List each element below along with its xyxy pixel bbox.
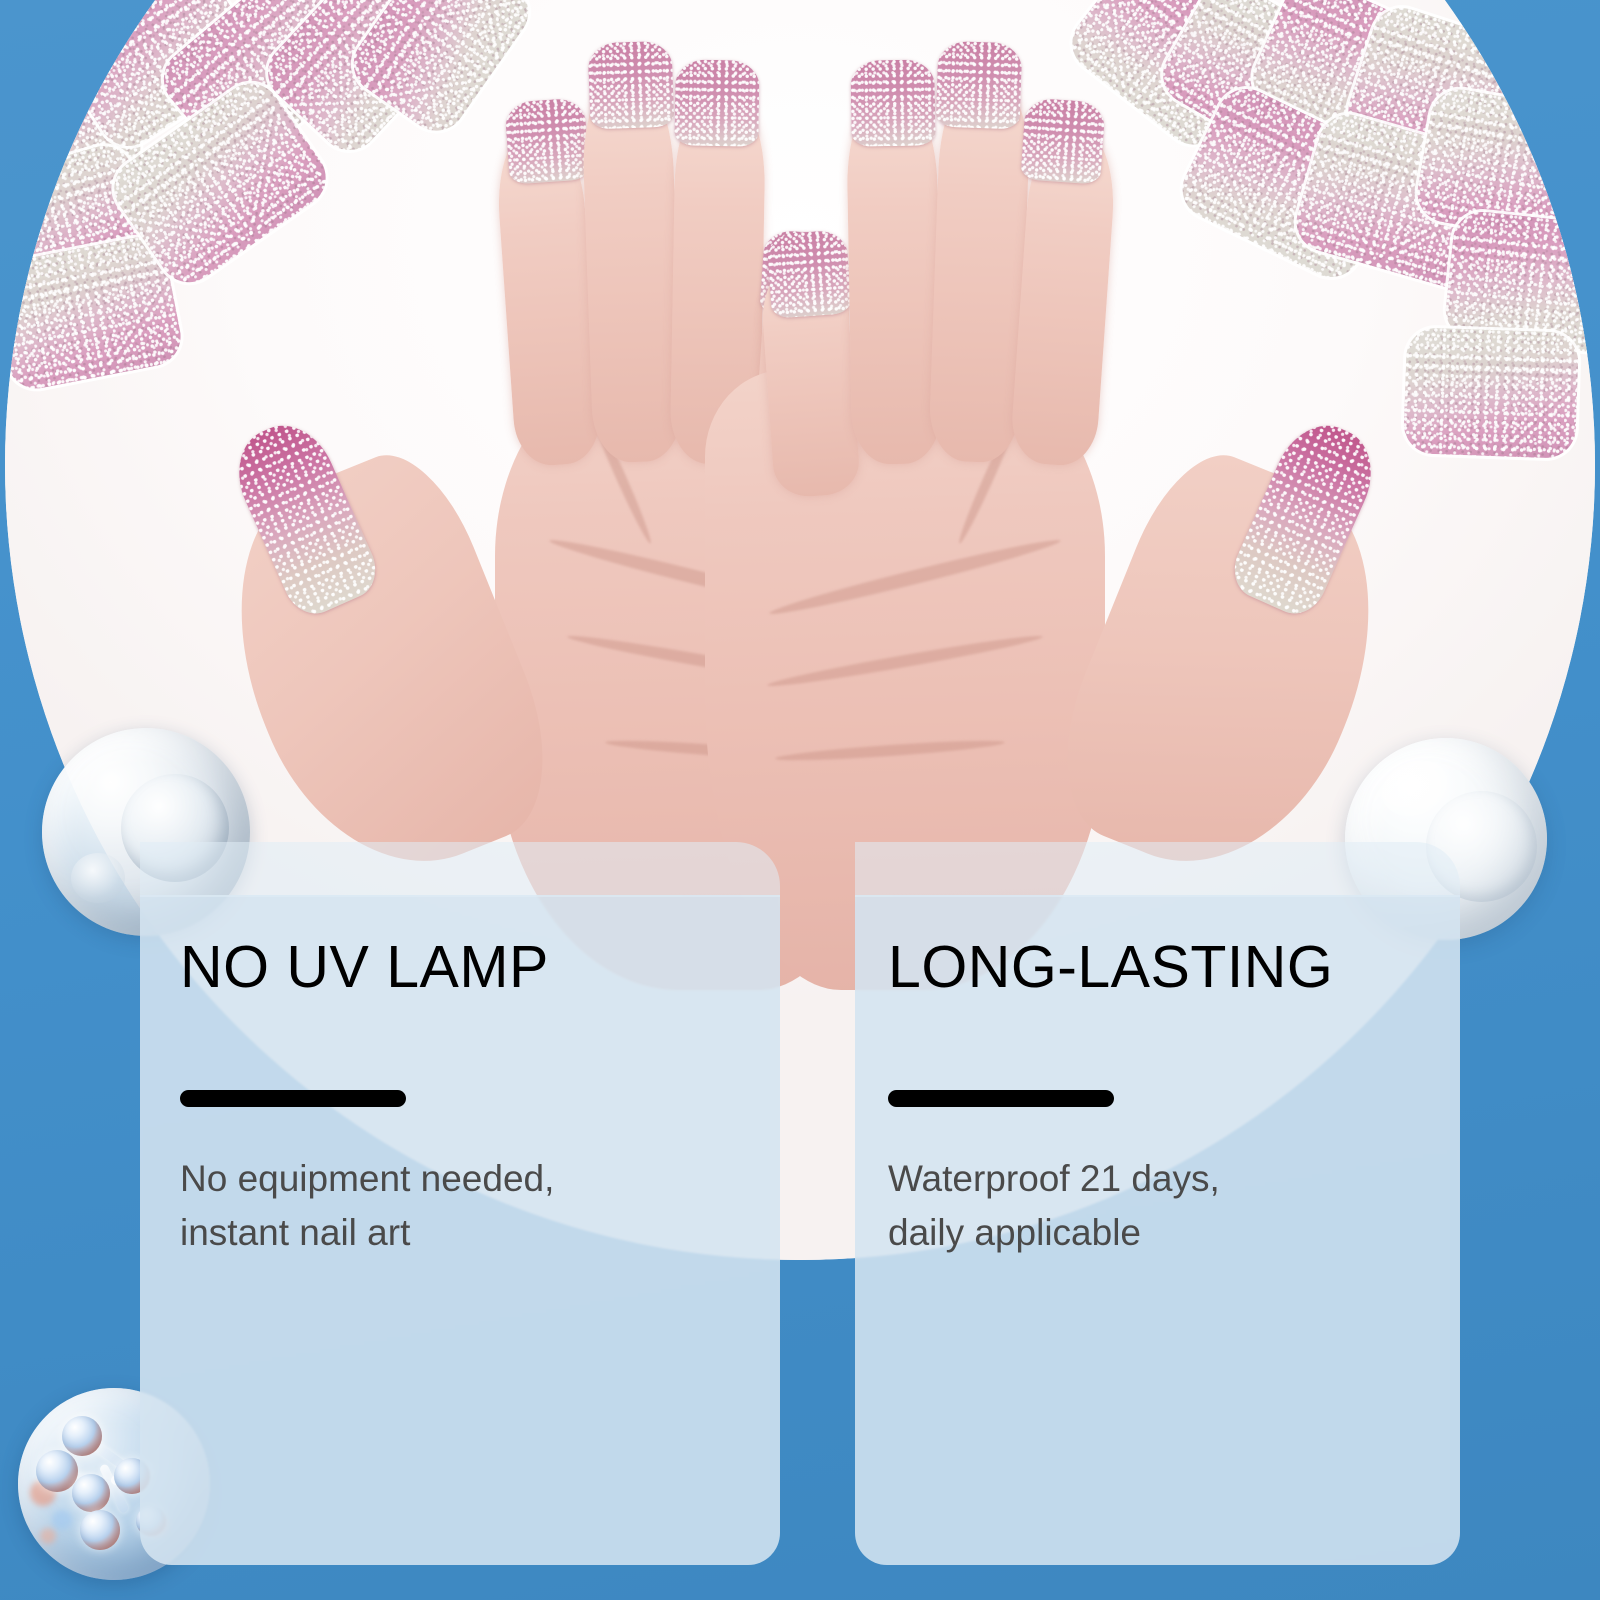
molecule-atom [80,1510,120,1550]
nail [588,41,675,130]
nail [1020,97,1106,184]
nail [766,229,852,318]
nail [936,41,1023,130]
feature-description-no-uv-lamp: No equipment needed, instant nail art [180,1152,720,1259]
molecule-atom [36,1450,78,1492]
feature-title-long-lasting: LONG-LASTING [888,938,1333,997]
bokeh-dot [40,1528,56,1544]
feature-card-long-lasting-top-overlay [855,842,1460,897]
bokeh-dot [52,1510,72,1530]
feature-card-no-uv-lamp-top-overlay [140,842,780,897]
feature-accent-rule [888,1090,1114,1107]
molecule-atom [72,1474,110,1512]
feature-title-no-uv-lamp: NO UV LAMP [180,938,549,997]
feature-description-long-lasting: Waterproof 21 days, daily applicable [888,1152,1408,1259]
feature-accent-rule [180,1090,406,1107]
nail [504,97,590,184]
molecule-atom [62,1416,102,1456]
product-feature-banner: NO UV LAMP No equipment needed, instant … [0,0,1600,1600]
nail [674,59,759,146]
nail [850,59,935,146]
